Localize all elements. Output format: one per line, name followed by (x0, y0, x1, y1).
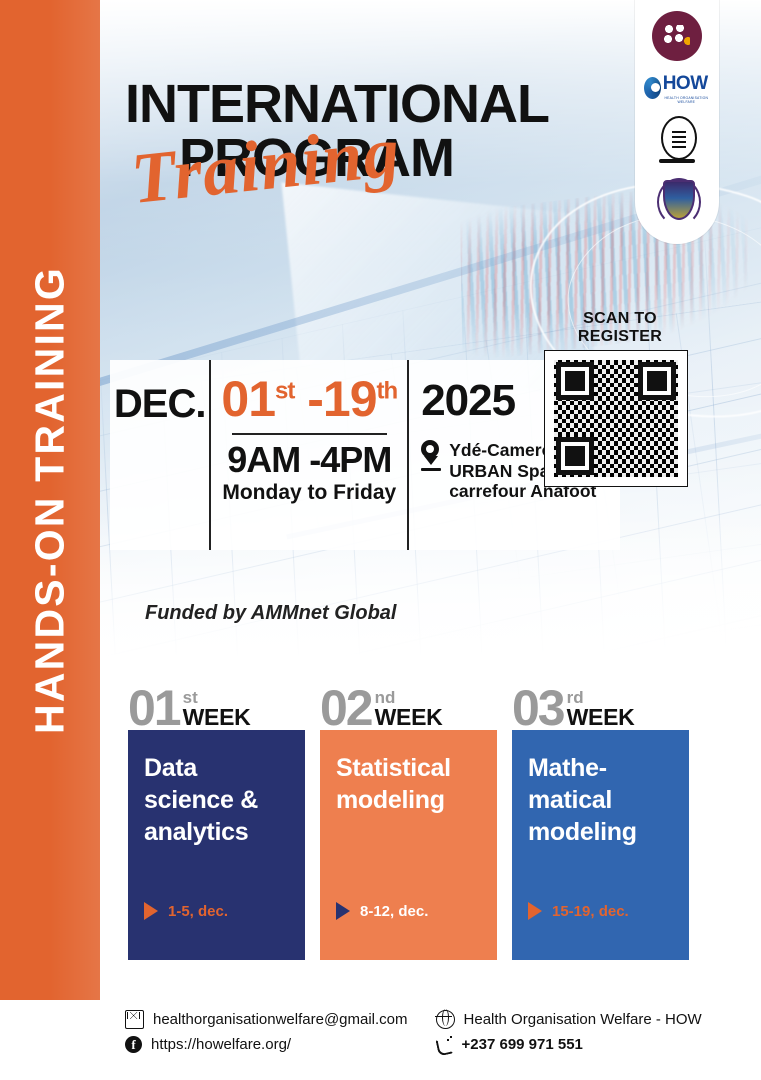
week-1-dates: 1-5, dec. (168, 903, 228, 920)
date-panel: DEC. 01st -19th 9AM -4PM Monday to Frida… (110, 360, 620, 550)
side-banner: HANDS-ON TRAINING (0, 0, 100, 1000)
week-2-dates: 8-12, dec. (360, 903, 428, 920)
funded-by-text: Funded by AMMnet Global (145, 602, 396, 625)
how-logo-text: HOW (663, 73, 710, 95)
arrow-icon (336, 902, 350, 920)
week-1-dates-row: 1-5, dec. (144, 902, 228, 920)
week-3-header: 03 rd WEEK (512, 672, 689, 730)
globe-icon (436, 1010, 455, 1029)
footer-phone[interactable]: +237 699 971 551 (462, 1036, 583, 1053)
week-card-1: 01 st WEEK Data science & analytics 1-5,… (128, 672, 305, 960)
week-3-title: Mathe- matical modeling (528, 752, 673, 848)
week-2-title: Statistical modeling (336, 752, 481, 816)
arrow-icon (528, 902, 542, 920)
location-pin-icon (421, 440, 441, 502)
date-month: DEC. (110, 360, 209, 550)
scan-to-register: SCAN TO REGISTER (545, 310, 695, 486)
footer-website[interactable]: https://howelfare.org/ (151, 1036, 291, 1053)
scan-label: SCAN TO REGISTER (545, 310, 695, 346)
week-1-body: Data science & analytics 1-5, dec. (128, 730, 305, 960)
how-swirl-icon (644, 77, 661, 99)
side-banner-text: HANDS-ON TRAINING (27, 266, 74, 734)
footer-email[interactable]: healthorganisationwelfare@gmail.com (153, 1011, 408, 1028)
week-3-dates-row: 15-19, dec. (528, 902, 629, 920)
footer-phone-row[interactable]: +237 699 971 551 (436, 1036, 702, 1053)
week-2-label: WEEK (375, 706, 443, 729)
week-1-label: WEEK (183, 706, 251, 729)
date-day-start: 01 (221, 371, 275, 427)
week-2-number: 02 (320, 686, 372, 730)
footer-organisation-row: Health Organisation Welfare - HOW (436, 1010, 702, 1029)
date-day-end-ordinal: th (377, 377, 398, 404)
week-3-dates: 15-19, dec. (552, 903, 629, 920)
poster-title: INTERNATIONAL PROGRAM Training (125, 78, 549, 185)
footer-website-row[interactable]: f https://howelfare.org/ (125, 1036, 408, 1053)
date-day-end: 19 (323, 371, 377, 427)
date-day-start-ordinal: st (275, 377, 294, 404)
week-3-label: WEEK (567, 706, 635, 729)
university-crest-logo (651, 114, 703, 166)
date-divider (232, 433, 387, 435)
footer-column-right: Health Organisation Welfare - HOW +237 6… (436, 1010, 702, 1053)
week-1-number: 01 (128, 686, 180, 730)
week-1-header: 01 st WEEK (128, 672, 305, 730)
event-days: Monday to Friday (222, 481, 396, 505)
date-month-text: DEC. (114, 382, 206, 427)
week-3-body: Mathe- matical modeling 15-19, dec. (512, 730, 689, 960)
week-1-title: Data science & analytics (144, 752, 289, 848)
date-separator: - (307, 371, 323, 427)
event-time: 9AM -4PM (227, 441, 391, 479)
week-3-number: 03 (512, 686, 564, 730)
envelope-icon (125, 1010, 144, 1029)
how-logo-subtitle: HEALTH ORGANISATION WELFARE (663, 96, 710, 104)
week-card-2: 02 nd WEEK Statistical modeling 8-12, de… (320, 672, 497, 960)
footer-column-left: healthorganisationwelfare@gmail.com f ht… (125, 1010, 408, 1053)
logo-strip: HOW HEALTH ORGANISATION WELFARE (635, 0, 719, 244)
week-cards: 01 st WEEK Data science & analytics 1-5,… (128, 672, 690, 960)
how-logo: HOW HEALTH ORGANISATION WELFARE (644, 71, 710, 105)
week-2-dates-row: 8-12, dec. (336, 902, 428, 920)
institution-shield-logo (651, 175, 703, 227)
facebook-icon: f (125, 1036, 142, 1053)
footer-organisation: Health Organisation Welfare - HOW (464, 1011, 702, 1028)
week-2-body: Statistical modeling 8-12, dec. (320, 730, 497, 960)
poster: HANDS-ON TRAINING HOW HEALTH ORGANISATIO… (0, 0, 761, 1080)
phone-icon (436, 1036, 453, 1053)
qr-code[interactable] (545, 351, 687, 486)
footer: healthorganisationwelfare@gmail.com f ht… (125, 1010, 745, 1053)
arrow-icon (144, 902, 158, 920)
ammnet-global-logo (651, 10, 703, 62)
date-range-block: 01st -19th 9AM -4PM Monday to Friday (209, 360, 407, 550)
week-2-header: 02 nd WEEK (320, 672, 497, 730)
footer-email-row[interactable]: healthorganisationwelfare@gmail.com (125, 1010, 408, 1029)
date-range: 01st -19th (221, 360, 397, 424)
week-card-3: 03 rd WEEK Mathe- matical modeling 15-19… (512, 672, 689, 960)
